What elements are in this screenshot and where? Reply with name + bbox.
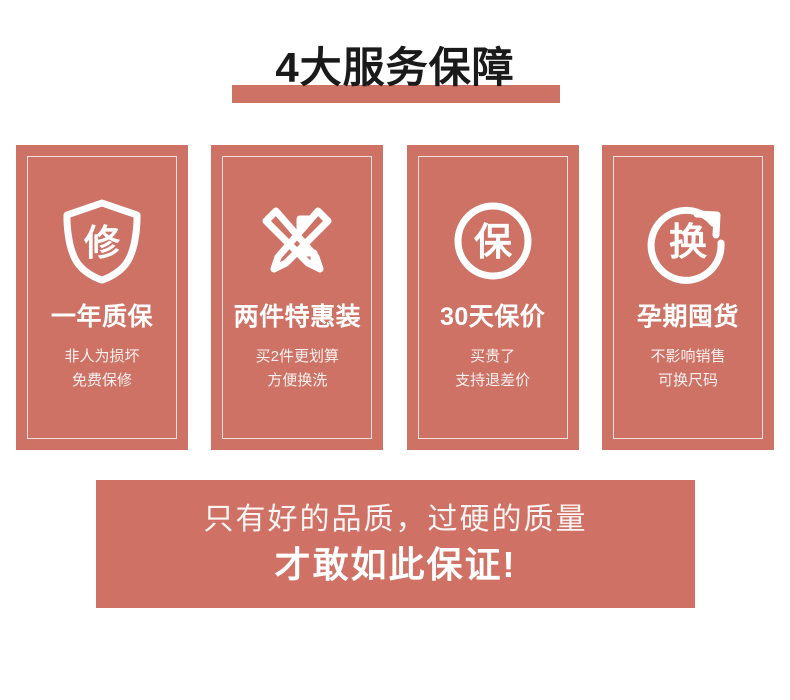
card-title: 30天保价 <box>440 303 545 332</box>
page-title: 4大服务保障 <box>0 44 790 92</box>
page-header: 4大服务保障 <box>0 0 790 110</box>
card-subtitle-line-2: 可换尺码 <box>658 369 718 393</box>
card-subtitle-line-2: 方便换洗 <box>267 369 327 393</box>
svg-text:修: 修 <box>84 222 121 263</box>
card-title: 两件特惠装 <box>234 303 362 332</box>
svg-text:换: 换 <box>669 222 707 264</box>
card-subtitle-line-1: 不影响销售 <box>650 345 725 369</box>
svg-text:保: 保 <box>474 222 513 264</box>
service-cards-row: 修 一年质保 非人为损坏 免费保修 <box>16 145 774 450</box>
circle-price-protection-icon: 保 <box>450 197 536 285</box>
card-subtitle-line-1: 买2件更划算 <box>256 345 339 369</box>
banner-line-1: 只有好的品质，过硬的质量 <box>204 501 588 539</box>
service-card-two-piece-deal[interactable]: 两件特惠装 买2件更划算 方便换洗 <box>211 145 383 450</box>
card-title: 孕期囤货 <box>637 303 739 332</box>
card-title: 一年质保 <box>51 303 153 332</box>
crossed-garment-tags-icon <box>252 197 342 285</box>
service-card-exchange[interactable]: 换 孕期囤货 不影响销售 可换尺码 <box>602 145 774 450</box>
card-subtitle-line-2: 免费保修 <box>72 369 132 393</box>
card-subtitle-line-2: 支持退差价 <box>455 369 530 393</box>
banner-line-2: 才敢如此保证! <box>275 543 517 587</box>
circular-arrow-exchange-icon: 换 <box>643 197 733 285</box>
card-subtitle-line-1: 非人为损坏 <box>64 345 139 369</box>
shield-repair-icon: 修 <box>59 197 145 285</box>
card-subtitle-line-1: 买贵了 <box>470 345 515 369</box>
service-card-price-protection[interactable]: 保 30天保价 买贵了 支持退差价 <box>407 145 579 450</box>
service-card-warranty[interactable]: 修 一年质保 非人为损坏 免费保修 <box>16 145 188 450</box>
quality-guarantee-banner: 只有好的品质，过硬的质量 才敢如此保证! <box>96 480 695 608</box>
